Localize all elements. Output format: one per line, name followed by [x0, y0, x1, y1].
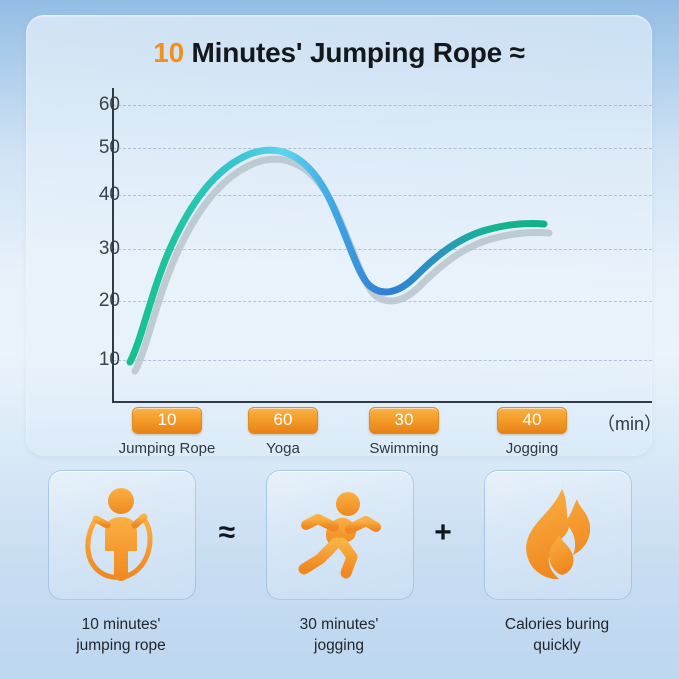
flame-icon [515, 485, 601, 585]
icon-card-calories [484, 470, 632, 600]
icon-card-jumping-rope [48, 470, 196, 600]
data-curve [86, 90, 652, 405]
approximately-equal-symbol: ≈ [207, 516, 247, 550]
card-caption-jogging: 30 minutes' jogging [266, 614, 412, 656]
x-badge-swimming: 30 [369, 407, 439, 434]
x-category-yoga: 60 Yoga [218, 407, 348, 457]
x-label-swimming: Swimming [339, 440, 469, 457]
x-label-yoga: Yoga [218, 440, 348, 457]
curve-line [130, 150, 544, 362]
x-axis-legend: 10 Jumping Rope 60 Yoga 30 Swimming 40 J… [86, 407, 656, 462]
card-caption-jumping-rope: 10 minutes' jumping rope [48, 614, 194, 656]
x-badge-yoga: 60 [248, 407, 318, 434]
card-calories: Calories buring quickly [484, 470, 630, 656]
x-category-swimming: 30 Swimming [339, 407, 469, 457]
plot-area: 60 50 40 30 20 10 [86, 90, 652, 405]
chart-panel: 10 Minutes' Jumping Rope ≈ 60 50 40 30 2… [26, 15, 652, 456]
comparison-cards-row: 10 minutes' jumping rope ≈ [0, 470, 679, 670]
jumping-rope-person-icon [74, 483, 170, 587]
x-category-jogging: 40 Jogging [467, 407, 597, 457]
x-badge-jumping-rope: 10 [132, 407, 202, 434]
x-label-jogging: Jogging [467, 440, 597, 457]
chart-title-highlight: 10 [153, 37, 184, 68]
chart-title: 10 Minutes' Jumping Rope ≈ [26, 37, 652, 69]
card-caption-calories: Calories buring quickly [484, 614, 630, 656]
x-axis-unit-label: （min） [597, 410, 662, 436]
card-jumping-rope: 10 minutes' jumping rope [48, 470, 194, 656]
x-category-jumping-rope: 10 Jumping Rope [102, 407, 232, 457]
running-person-icon [290, 487, 390, 583]
card-jogging: 30 minutes' jogging [266, 470, 412, 656]
curve-shadow [135, 159, 549, 371]
x-label-jumping-rope: Jumping Rope [102, 440, 232, 457]
x-badge-jogging: 40 [497, 407, 567, 434]
icon-card-jogging [266, 470, 414, 600]
plus-symbol: + [423, 516, 463, 550]
chart-title-rest: Minutes' Jumping Rope ≈ [184, 37, 525, 68]
